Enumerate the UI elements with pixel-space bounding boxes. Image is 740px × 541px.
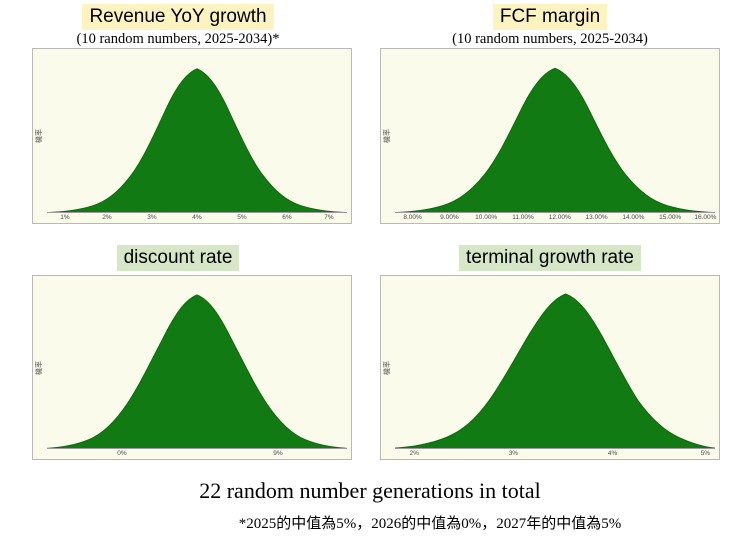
x-tick-label: 8.00% [403,214,421,221]
y-axis-label: 機率 [34,361,44,375]
plot-area-discount-rate: 機率 0% 9% [32,275,352,460]
x-tick-label: 1% [60,214,69,221]
footnote-text: *2025的中值為5%，2026的中值為0%，2027年的中值為5% [0,512,740,533]
y-axis-label: 機率 [382,361,392,375]
plot-inner: 8.00% 9.00% 10.00% 11.00% 12.00% 13.00% … [395,55,715,213]
plot-inner: 0% 9% [47,282,347,449]
distribution-curve [47,55,347,213]
x-axis-line [47,448,347,449]
x-tick-label: 15.00% [659,214,681,221]
chart-title: discount rate [117,245,240,271]
x-tick-label: 3% [509,450,518,457]
x-tick-label: 10.00% [475,214,497,221]
x-axis-ticks: 8.00% 9.00% 10.00% 11.00% 12.00% 13.00% … [395,214,715,224]
x-tick-label: 2% [102,214,111,221]
chart-panel-terminal-growth-rate: terminal growth rate 機率 2% 3% 4% 5% [380,245,720,456]
distribution-curve [47,282,347,449]
curve-path-0 [47,69,347,213]
x-tick-label: 16.00% [694,214,716,221]
x-tick-label: 3% [147,214,156,221]
x-tick-label: 6% [282,214,291,221]
x-axis-ticks: 1% 2% 3% 4% 5% 6% 7% [47,214,347,224]
x-tick-label: 14.00% [622,214,644,221]
x-tick-label: 4% [608,450,617,457]
x-tick-label: 4% [192,214,201,221]
y-axis-label: 機率 [382,129,392,143]
distribution-curve [395,55,715,213]
chart-title-wrap: terminal growth rate [380,245,720,271]
chart-title: Revenue YoY growth [82,4,273,30]
chart-title-wrap: discount rate [8,245,348,271]
x-tick-label: 2% [409,450,418,457]
plot-area-terminal-growth-rate: 機率 2% 3% 4% 5% [380,275,720,460]
total-generations-text: 22 random number generations in total [0,478,740,504]
x-tick-label: 9.00% [440,214,458,221]
x-axis-line [395,448,715,449]
x-tick-label: 0% [117,450,126,457]
x-tick-label: 7% [324,214,333,221]
chart-title-wrap: FCF margin [380,4,720,30]
chart-title-wrap: Revenue YoY growth [8,4,348,30]
y-axis-label: 機率 [34,129,44,143]
x-axis-ticks: 0% 9% [47,450,347,460]
chart-subtitle: (10 random numbers, 2025-2034)* [8,31,348,48]
chart-panel-fcf-margin: FCF margin (10 random numbers, 2025-2034… [380,4,720,224]
chart-title: terminal growth rate [459,245,641,271]
x-axis-line [47,212,347,213]
x-tick-label: 5% [701,450,710,457]
chart-subtitle: (10 random numbers, 2025-2034) [380,31,720,48]
curve-path-2 [47,295,347,449]
chart-panel-discount-rate: discount rate 機率 0% 9% [8,245,348,456]
curve-path-3 [395,294,715,449]
x-tick-label: 12.00% [549,214,571,221]
slide-root: Revenue YoY growth (10 random numbers, 2… [0,0,740,541]
chart-title: FCF margin [493,4,607,30]
x-tick-label: 13.00% [586,214,608,221]
curve-path-1 [395,68,715,213]
plot-inner: 1% 2% 3% 4% 5% 6% 7% [47,55,347,213]
x-axis-ticks: 2% 3% 4% 5% [395,450,715,460]
x-tick-label: 9% [273,450,282,457]
x-tick-label: 11.00% [512,214,534,221]
chart-panel-revenue-yoy-growth: Revenue YoY growth (10 random numbers, 2… [8,4,348,224]
plot-area-fcf-margin: 機率 8.00% 9.00% 10.00% 11.00% 12.00% 13.0… [380,48,720,224]
x-axis-line [395,212,715,213]
plot-area-revenue-yoy-growth: 機率 1% 2% 3% 4% 5% 6% 7% [32,48,352,224]
distribution-curve [395,282,715,449]
plot-inner: 2% 3% 4% 5% [395,282,715,449]
x-tick-label: 5% [237,214,246,221]
